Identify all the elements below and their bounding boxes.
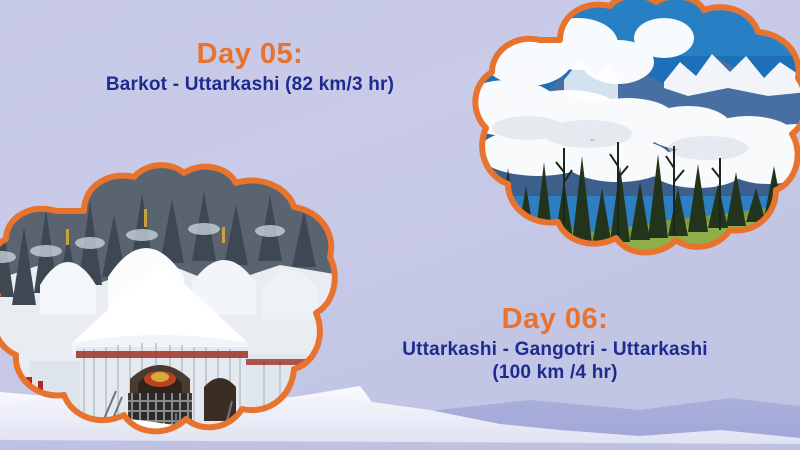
day-06-route: Uttarkashi - Gangotri - Uttarkashi (355, 339, 755, 360)
day-06-text-block: Day 06: Uttarkashi - Gangotri - Uttarkas… (355, 303, 755, 383)
day-05-route: Barkot - Uttarkashi (82 km/3 hr) (55, 74, 445, 95)
himalayan-mountains-photo-frame (468, 0, 800, 276)
day-05-title: Day 05: (55, 38, 445, 70)
itinerary-slide: Day 05: Barkot - Uttarkashi (82 km/3 hr)… (0, 0, 800, 450)
gangotri-temple-photo-frame (0, 165, 340, 445)
day-06-route-line2: (100 km /4 hr) (355, 362, 755, 383)
day-06-title: Day 06: (355, 303, 755, 335)
mountains-photo-content (456, 0, 800, 276)
day-05-text-block: Day 05: Barkot - Uttarkashi (82 km/3 hr) (55, 38, 445, 96)
